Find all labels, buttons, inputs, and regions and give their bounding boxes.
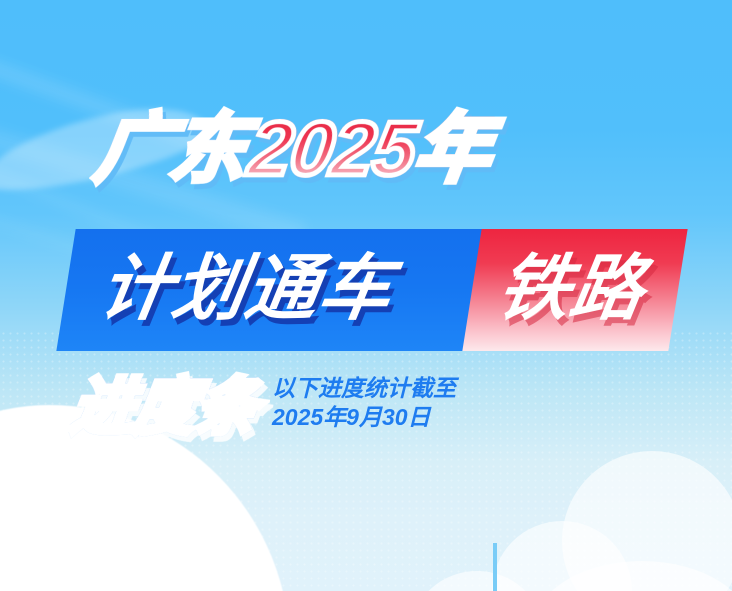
progress-bar-title: 进度条 — [68, 377, 263, 439]
caption-line-2: 2025年9月30日 — [272, 403, 456, 432]
headline-year-text: 2025年 — [245, 112, 496, 188]
poster-canvas: 广东 2025年 计划通车 铁路 进度条 以下进度统计截至 2025年9月30日 — [0, 0, 732, 591]
headline-banner: 计划通车 铁路 — [66, 229, 678, 351]
banner-right-label: 铁路 — [492, 253, 649, 325]
banner-left-label: 计划通车 — [94, 253, 397, 325]
headline-line-3: 进度条 以下进度统计截至 2025年9月30日 — [72, 374, 456, 439]
headline-block: 广东 2025年 计划通车 铁路 进度条 以下进度统计截至 2025年9月30日 — [0, 0, 732, 591]
headline-region-text: 广东 — [91, 112, 252, 188]
caption-line-1: 以下进度统计截至 — [272, 374, 456, 403]
statistics-cutoff-caption: 以下进度统计截至 2025年9月30日 — [272, 374, 456, 433]
banner-text-layer: 计划通车 铁路 — [56, 229, 687, 351]
headline-line-1: 广东 2025年 — [96, 112, 490, 188]
